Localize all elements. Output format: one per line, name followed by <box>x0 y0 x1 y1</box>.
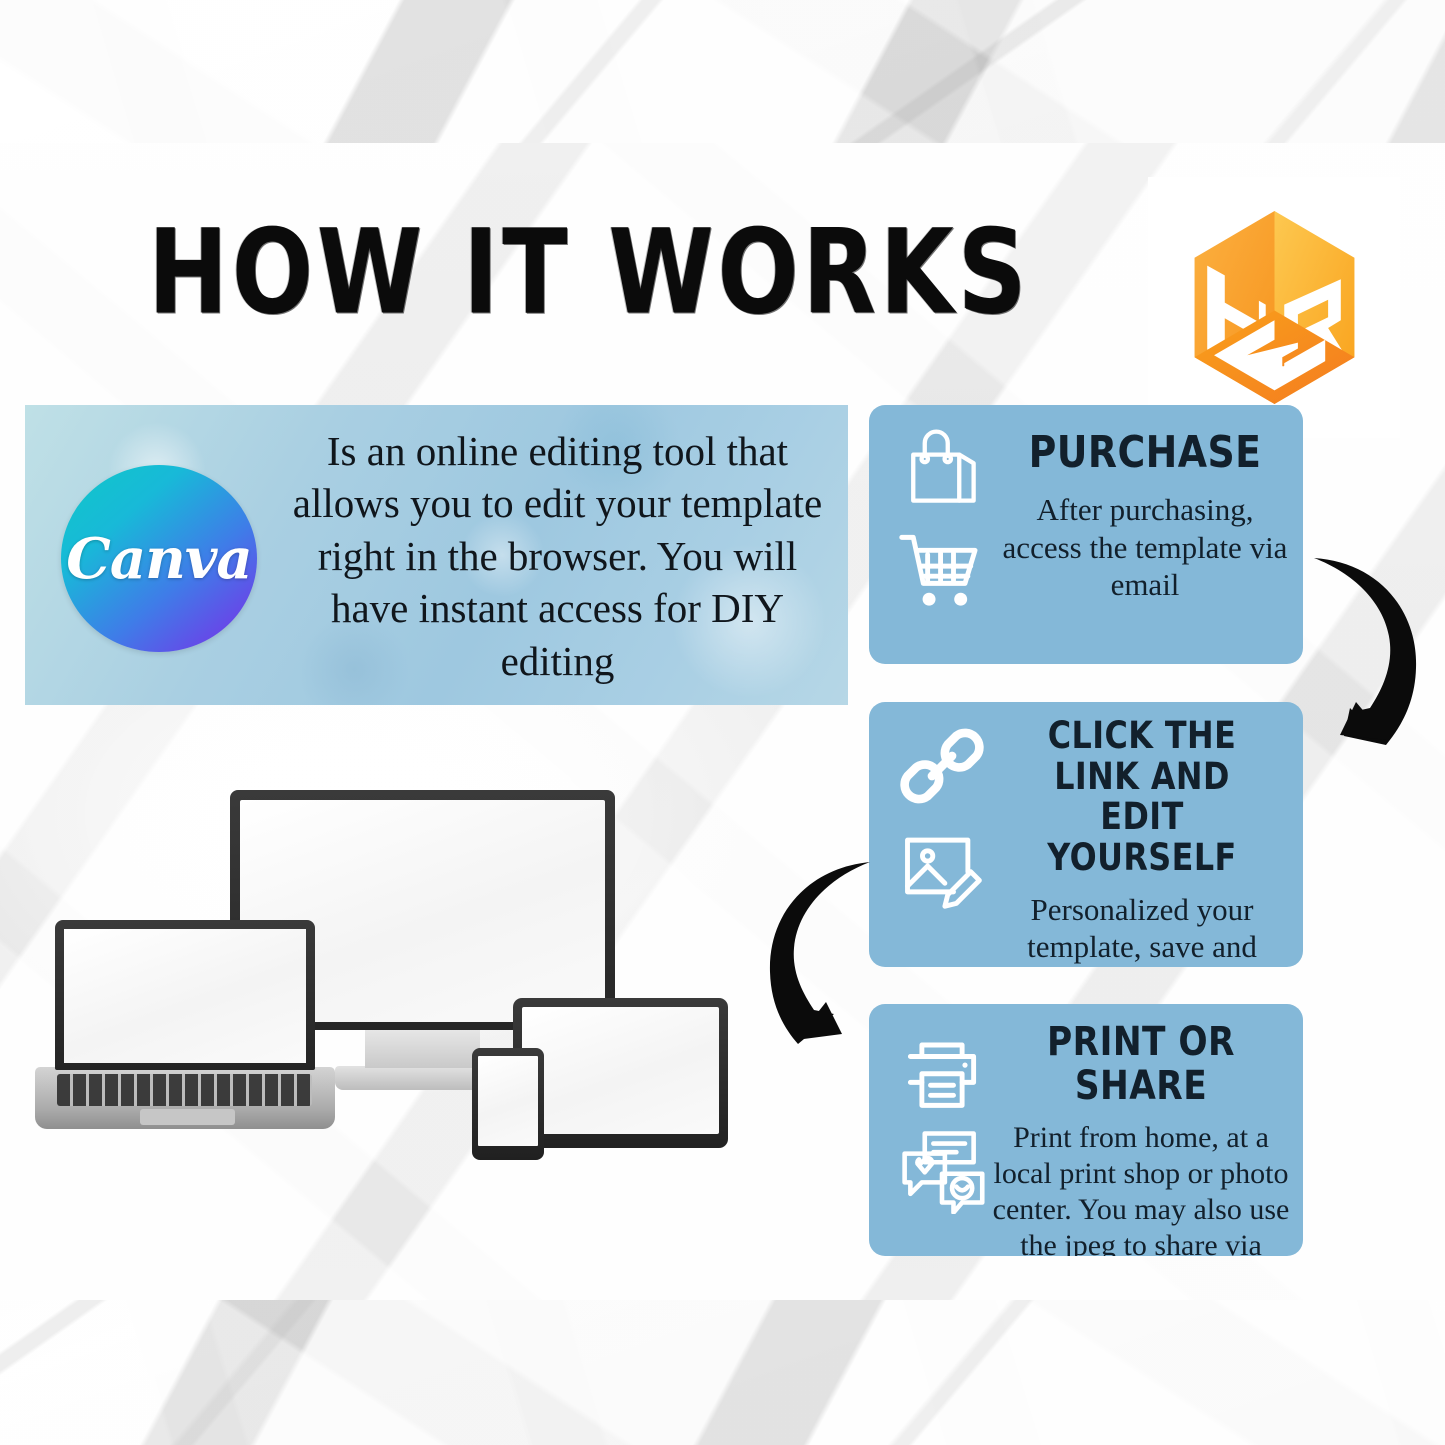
phone-screen <box>478 1056 538 1146</box>
hrg-cube-icon <box>1177 203 1372 413</box>
step-card-click-edit: CLICK THE LINK AND EDIT YOURSELF Persona… <box>869 702 1303 967</box>
tablet-device <box>513 998 728 1148</box>
phone-device <box>472 1048 544 1160</box>
canva-description: Is an online editing tool that allows yo… <box>275 425 840 687</box>
chat-bubbles-icon <box>896 1122 988 1214</box>
click-edit-title: CLICK THE LINK AND EDIT YOURSELF <box>1010 716 1273 879</box>
laptop-device <box>55 920 315 1070</box>
purchase-title: PURCHASE <box>1018 429 1273 477</box>
link-chain-icon <box>896 720 988 812</box>
arrow-purchase-to-click-icon <box>1300 540 1440 755</box>
print-share-title: PRINT OR SHARE <box>1009 1020 1274 1108</box>
canva-logo-label: Canva <box>66 526 251 592</box>
click-edit-body: Personalized your template, save and dow… <box>989 891 1295 967</box>
print-share-body: Print from home, at a local print shop o… <box>987 1120 1295 1256</box>
canva-info-banner: Canva Is an online editing tool that all… <box>25 405 848 705</box>
purchase-text: PURCHASE After purchasing, access the te… <box>997 429 1293 603</box>
arrow-click-to-print-icon <box>752 848 882 1048</box>
print-share-icons <box>887 1022 997 1214</box>
laptop-trackpad <box>140 1109 235 1125</box>
brand-logo <box>1148 177 1400 438</box>
purchase-body: After purchasing, access the template vi… <box>997 491 1293 603</box>
monitor-neck <box>365 1030 480 1068</box>
step-card-purchase: PURCHASE After purchasing, access the te… <box>869 405 1303 664</box>
print-share-text: PRINT OR SHARE Print from home, at a loc… <box>987 1020 1295 1256</box>
click-edit-text: CLICK THE LINK AND EDIT YOURSELF Persona… <box>989 716 1295 967</box>
tablet-screen <box>522 1007 719 1134</box>
purchase-icons <box>887 423 997 615</box>
printer-icon <box>896 1022 988 1114</box>
shopping-bag-icon <box>896 423 988 515</box>
shopping-cart-icon <box>896 523 988 615</box>
canva-logo-icon: Canva <box>61 465 257 652</box>
click-edit-icons <box>887 720 997 912</box>
laptop-keyboard <box>57 1074 312 1106</box>
image-edit-icon <box>896 820 988 912</box>
page-title: HOW IT WORKS <box>148 205 810 339</box>
device-mockup-image <box>35 770 765 1170</box>
laptop-screen <box>64 929 306 1063</box>
step-card-print-share: PRINT OR SHARE Print from home, at a loc… <box>869 1004 1303 1256</box>
